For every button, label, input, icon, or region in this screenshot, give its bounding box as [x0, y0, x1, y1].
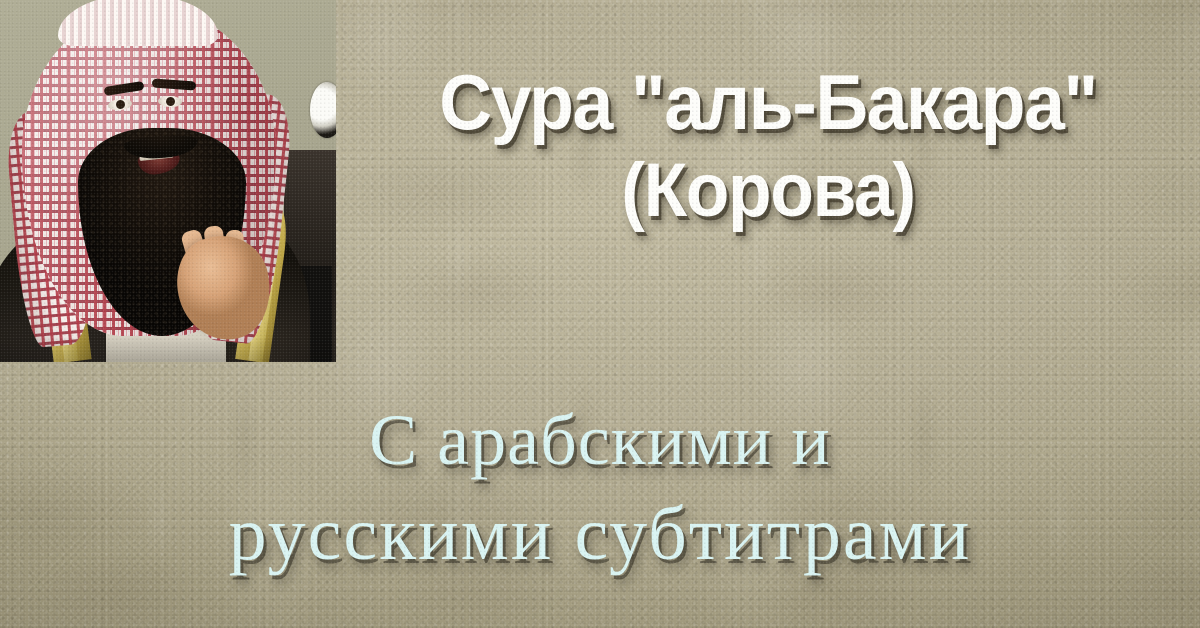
- portrait-photo: [0, 0, 336, 362]
- subheadline-line-2: русскими субтитрами: [0, 496, 1200, 572]
- subheadline-line-1: С арабскими и: [0, 404, 1200, 476]
- keffiyeh-crown: [58, 0, 218, 46]
- headline-block: Сура "аль-Бакара" (Корова): [348, 64, 1188, 229]
- pupil-right: [166, 97, 175, 106]
- banner-canvas: Сура "аль-Бакара" (Корова) С арабскими и…: [0, 0, 1200, 628]
- photo-figure: [0, 0, 336, 362]
- headline-line-1: Сура "аль-Бакара": [373, 64, 1163, 140]
- subheadline-block: С арабскими и русскими субтитрами: [0, 404, 1200, 572]
- pupil-left: [116, 100, 126, 110]
- photo-bottom-shadow: [0, 336, 336, 362]
- headline-line-2: (Корова): [373, 154, 1163, 228]
